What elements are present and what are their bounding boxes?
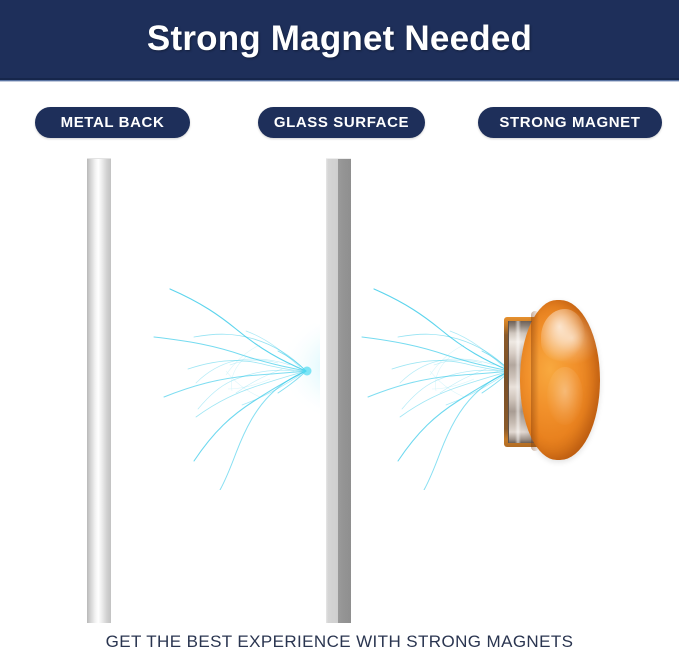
magnet-seam-shadow <box>531 311 539 451</box>
label-pill-strong-magnet: STRONG MAGNET <box>478 107 662 138</box>
footer-caption: GET THE BEST EXPERIENCE WITH STRONG MAGN… <box>0 632 679 652</box>
metal-back-bar <box>87 158 111 623</box>
product-infographic: Strong Magnet Needed METAL BACK GLASS SU… <box>0 0 679 660</box>
strong-magnet <box>495 295 605 465</box>
page-title: Strong Magnet Needed <box>0 0 679 78</box>
glass-surface-bar <box>326 158 351 623</box>
magnet-highlight-mid <box>547 367 583 425</box>
label-pill-metal-back: METAL BACK <box>35 107 190 138</box>
magnet-highlight-top <box>541 309 585 361</box>
magnetic-arc-metal-icon <box>150 275 320 490</box>
label-pill-glass-surface: GLASS SURFACE <box>258 107 425 138</box>
header-divider <box>0 78 679 82</box>
